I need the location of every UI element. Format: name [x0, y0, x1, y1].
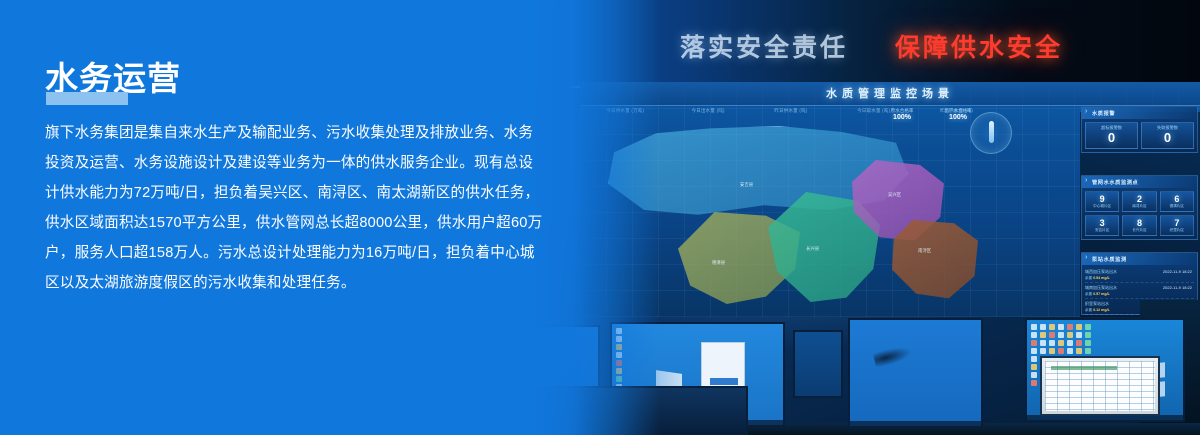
description-text: 旗下水务集团是集自来水生产及输配业务、污水收集处理及排放业务、水务投资及运营、水… [45, 118, 545, 298]
panel-water-quality-alarm: 水质报警 超标报警数 0 失联报警数 0 [1081, 106, 1198, 153]
monitor-underwater-diver [848, 318, 983, 428]
description-paragraph: 旗下水务集团是集自来水生产及输配业务、污水收集处理及排放业务、水务投资及运营、水… [45, 118, 545, 298]
control-room-photo: 落实安全责任 保障供水安全 水质管理监控场景 今日供水量 (万吨) 今日出水量 … [480, 0, 1200, 435]
feed-row[interactable]: 城南加压泵站出水 2022-11-9 18:22 余氯 0.57 mg/L [1085, 283, 1194, 299]
map-label: 南浔区 [918, 248, 931, 254]
district-map: 安吉县 德清县 长兴县 吴兴区 南浔区 [600, 120, 1000, 310]
monitor-point-cell[interactable]: 8 长兴片区 [1122, 215, 1156, 236]
taskbar [850, 421, 981, 426]
panel-title: 管网水水质监测点 [1082, 176, 1197, 188]
alarm-tile[interactable]: 超标报警数 0 [1085, 122, 1138, 149]
monitor-point-cell[interactable]: 9 中心城片区 [1085, 191, 1119, 212]
diver-figure [872, 343, 913, 368]
alarm-tile[interactable]: 失联报警数 0 [1141, 122, 1194, 149]
panel-title: 水质报警 [1082, 107, 1197, 119]
spreadsheet-grid [1045, 361, 1155, 411]
monitor-narrow-dark [793, 330, 843, 398]
map-label: 长兴县 [806, 246, 819, 252]
monitor-point-cell[interactable]: 7 织里片区 [1160, 215, 1194, 236]
panel-title: 泵站水质监测 [1082, 253, 1197, 265]
monitor-spreadsheet [1040, 356, 1160, 416]
map-label: 安吉县 [740, 182, 753, 188]
led-video-wall: 落实安全责任 保障供水安全 [570, 0, 1200, 88]
monitor-point-grid: 9 中心城片区 2 南浔片区 6 德清片区 3 安吉片区 8 长兴片区 [1082, 188, 1197, 239]
monitor-point-cell[interactable]: 3 安吉片区 [1085, 215, 1119, 236]
monitor-point-cell[interactable]: 2 南浔片区 [1122, 191, 1156, 212]
dashboard-title: 水质管理监控场景 [580, 85, 1200, 101]
water-quality-dashboard: 水质管理监控场景 今日供水量 (万吨) 今日出水量 (吨) 昨日供水量 (吨) … [580, 82, 1200, 317]
alarm-tiles: 超标报警数 0 失联报警数 0 [1082, 119, 1197, 152]
feed-row[interactable]: 城西加压泵站出水 2022-11-9 18:22 余氯 0.54 mg/L [1085, 267, 1194, 283]
panel-pipeline-monitor-points: 管网水水质监测点 9 中心城片区 2 南浔片区 6 德清片区 3 安吉片区 [1081, 175, 1198, 240]
title-underline-bar [46, 92, 128, 105]
led-slogan-left: 落实安全责任 [680, 28, 848, 64]
map-region-nanxun[interactable] [892, 220, 978, 300]
hero-banner: 落实安全责任 保障供水安全 水质管理监控场景 今日供水量 (万吨) 今日出水量 … [0, 0, 1200, 435]
map-label: 德清县 [712, 260, 725, 266]
text-column: 水务运营 旗下水务集团是集自来水生产及输配业务、污水收集处理及排放业务、水务投资… [0, 0, 560, 435]
led-slogan-right: 保障供水安全 [895, 28, 1063, 64]
monitor-point-cell[interactable]: 6 德清片区 [1160, 191, 1194, 212]
map-label: 吴兴区 [888, 192, 901, 198]
